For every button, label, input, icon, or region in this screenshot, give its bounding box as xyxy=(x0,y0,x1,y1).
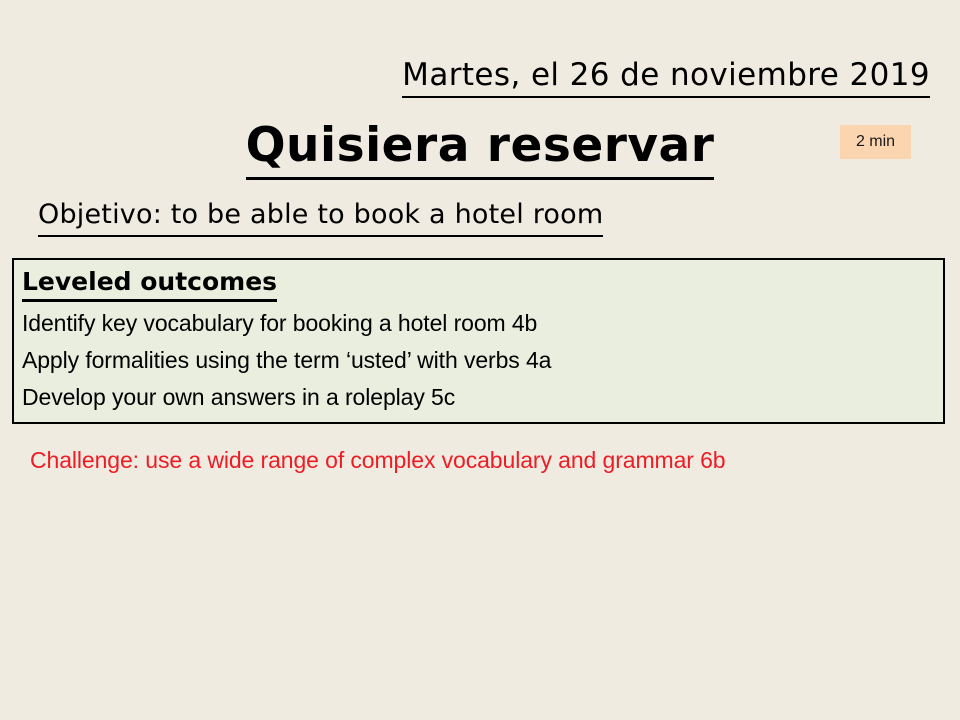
timer-badge: 2 min xyxy=(840,125,911,159)
leveled-outcomes-box: Leveled outcomes Identify key vocabulary… xyxy=(12,258,945,424)
slide-date-text: Martes, el 26 de noviembre 2019 xyxy=(402,56,930,98)
outcomes-list: Identify key vocabulary for booking a ho… xyxy=(22,305,937,416)
objective-line: Objetivo: to be able to book a hotel roo… xyxy=(38,198,603,237)
list-item: Identify key vocabulary for booking a ho… xyxy=(22,305,937,342)
lesson-slide: Martes, el 26 de noviembre 2019 Quisiera… xyxy=(0,0,960,720)
timer-badge-label: 2 min xyxy=(856,133,895,151)
outcomes-heading-text: Leveled outcomes xyxy=(22,266,277,302)
outcomes-heading: Leveled outcomes xyxy=(22,266,277,302)
list-item: Develop your own answers in a roleplay 5… xyxy=(22,379,937,416)
list-item: Apply formalities using the term ‘usted’… xyxy=(22,342,937,379)
objective-text: Objetivo: to be able to book a hotel roo… xyxy=(38,198,603,237)
challenge-line: Challenge: use a wide range of complex v… xyxy=(30,444,726,476)
page-title: Quisiera reservar xyxy=(0,118,960,180)
slide-date: Martes, el 26 de noviembre 2019 xyxy=(0,56,930,98)
page-title-text: Quisiera reservar xyxy=(246,118,715,180)
